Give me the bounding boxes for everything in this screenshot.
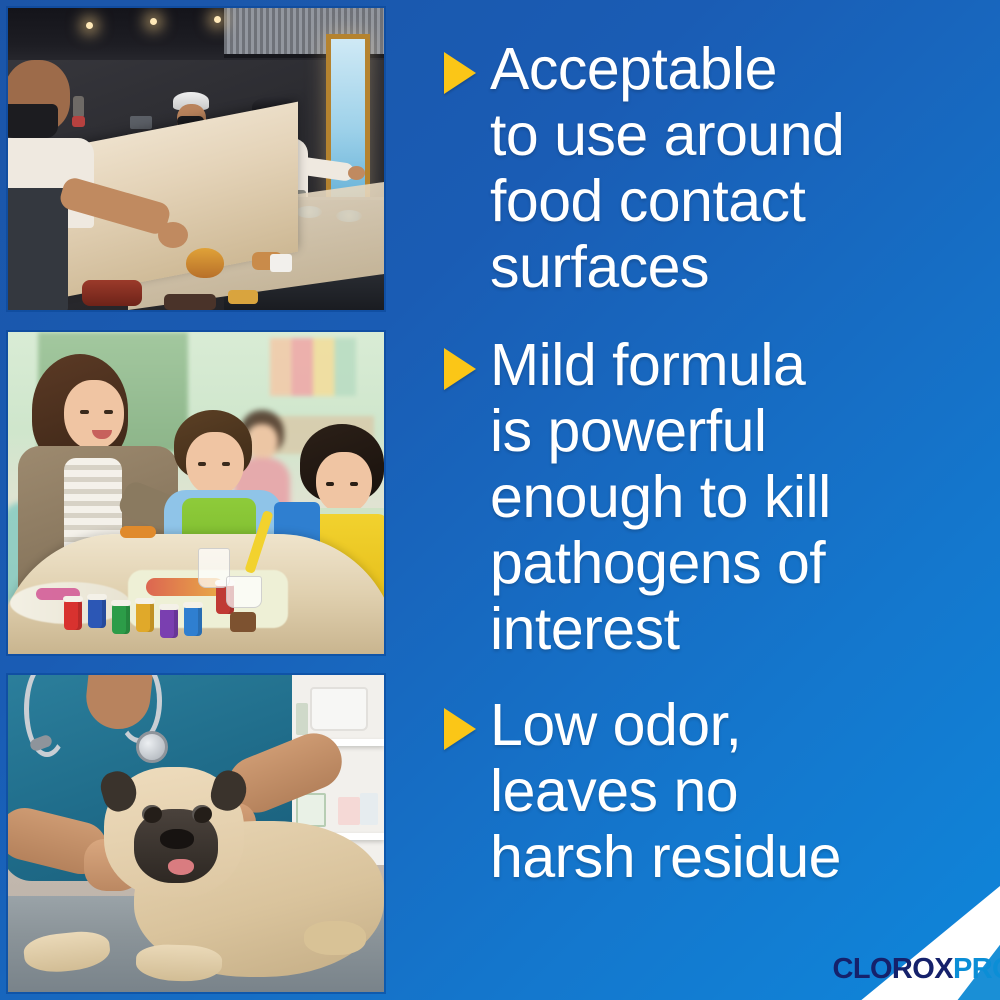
bullet-item-2: Mild formula is powerful enough to kill … <box>430 332 831 662</box>
paint-bottle <box>64 600 82 630</box>
food-item <box>228 290 258 304</box>
paint-pot <box>230 612 256 632</box>
photo-column <box>8 8 384 992</box>
food-tray <box>270 254 292 272</box>
child-face <box>316 452 372 514</box>
restaurant-kitchen-photo <box>8 8 384 310</box>
bullet-text-2: Mild formula is powerful enough to kill … <box>490 332 831 662</box>
feature-bullet-list: Acceptable to use around food contact su… <box>430 0 1000 1000</box>
pug-eye <box>142 805 162 823</box>
ceiling-light-icon <box>150 18 157 25</box>
pug-tongue <box>168 859 194 875</box>
child-eye <box>222 462 230 466</box>
paint-bottle <box>136 602 154 632</box>
triangle-right-icon <box>444 348 476 390</box>
supply-box <box>338 797 360 825</box>
paint-bottle <box>160 608 178 638</box>
face-mask-icon <box>8 104 58 138</box>
bullet-text-1: Acceptable to use around food contact su… <box>490 36 844 300</box>
child-eye <box>326 482 334 486</box>
pug-nose <box>160 829 194 849</box>
paint-bottle <box>88 598 106 628</box>
chef-figure-foreground <box>8 60 140 310</box>
pug-hind-leg <box>304 921 366 955</box>
wall-poster <box>270 338 356 396</box>
logo-wordmark: CLOROXPRO <box>832 953 1000 986</box>
logo-clorox-text: CLOROX <box>832 953 952 985</box>
triangle-right-icon <box>444 52 476 94</box>
food-item <box>82 280 142 306</box>
bullet-text-3: Low odor, leaves no harsh residue <box>490 692 841 890</box>
chef-apron <box>8 188 68 310</box>
storage-bin <box>310 687 368 731</box>
paint-bottle <box>184 606 202 636</box>
ceiling-light-icon <box>214 16 221 23</box>
child-face <box>186 432 244 496</box>
paint-tray <box>226 576 262 608</box>
child-eye <box>350 482 358 486</box>
triangle-right-icon <box>444 708 476 750</box>
infographic-canvas: Acceptable to use around food contact su… <box>0 0 1000 1000</box>
classroom-photo <box>8 332 384 654</box>
clay-shape <box>120 526 156 538</box>
teacher-face <box>64 380 124 450</box>
veterinary-clinic-photo <box>8 675 384 992</box>
chef-hand <box>348 166 365 180</box>
food-item <box>186 248 224 278</box>
logo-pro-text: PRO <box>953 953 1000 985</box>
supply-box <box>296 703 308 735</box>
paint-bottle <box>112 604 130 634</box>
ceiling-light-icon <box>86 22 93 29</box>
cloroxpro-logo: CLOROXPRO <box>790 880 1000 1000</box>
supply-box <box>360 793 378 825</box>
teacher-eye <box>104 410 113 414</box>
pug-eye <box>192 805 212 823</box>
food-item <box>164 294 216 310</box>
chef-hand <box>158 222 188 248</box>
child-eye <box>198 462 206 466</box>
supply-box <box>296 793 326 827</box>
stethoscope-chestpiece <box>136 731 168 763</box>
bullet-item-3: Low odor, leaves no harsh residue <box>430 692 841 890</box>
teacher-eye <box>80 410 89 414</box>
bullet-item-1: Acceptable to use around food contact su… <box>430 36 844 300</box>
